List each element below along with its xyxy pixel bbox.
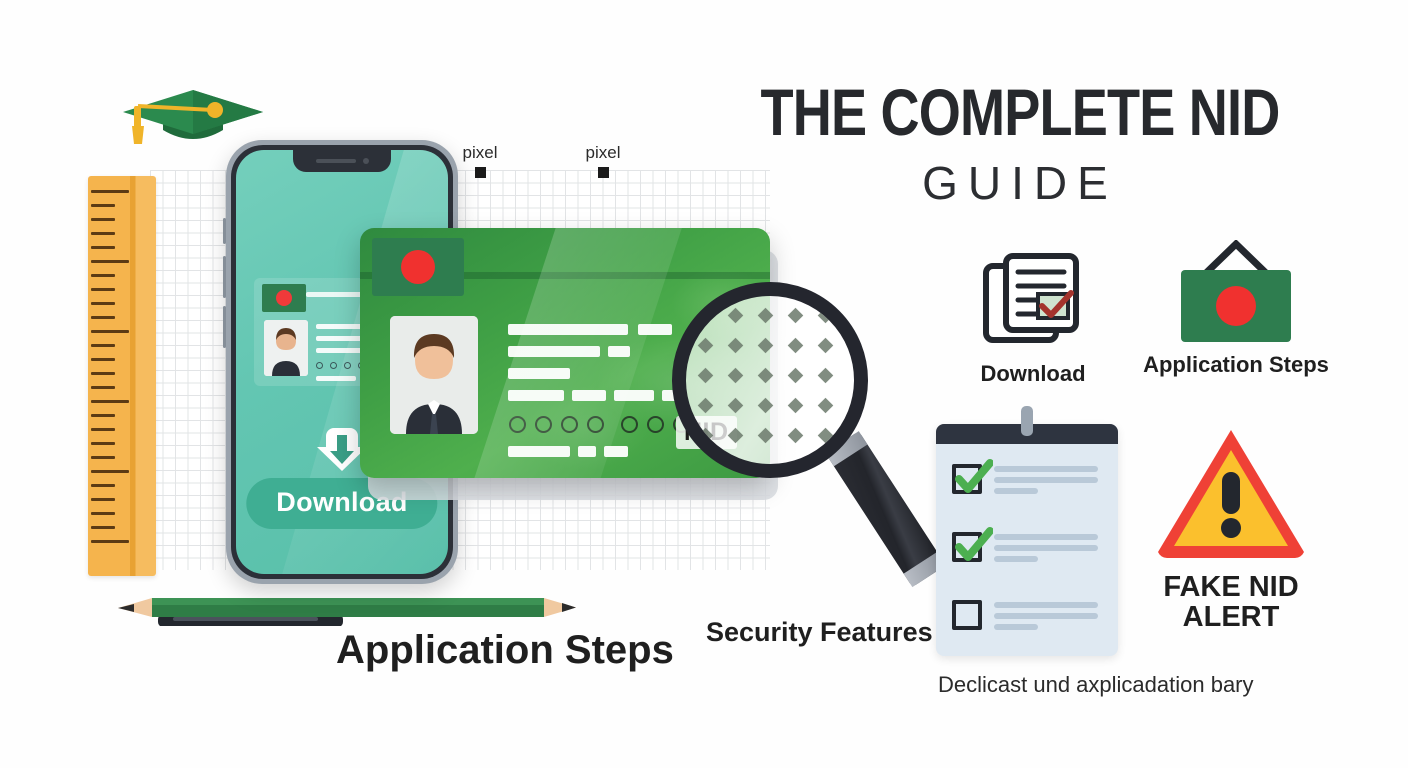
poster-title: THE COMPLETE NID GUIDE [700,74,1340,210]
alert-line-1: FAKE NID [1146,572,1316,602]
check-icon [953,457,993,497]
bangladesh-flag-icon [262,284,306,312]
phone-volume-up-button[interactable] [223,256,226,298]
pixel-marker-left[interactable]: pixel [455,143,505,178]
pixel-marker-label: pixel [578,143,628,163]
checklist-item[interactable] [952,532,1102,584]
flag-sign-icon [1181,270,1291,342]
portrait-photo-icon [264,320,308,376]
card-sheen [448,228,692,478]
bangladesh-flag-icon [372,238,464,296]
poster-canvas: Download pixel pixel [0,0,1408,768]
security-dot-pattern [686,296,854,464]
phone-volume-down-button[interactable] [223,306,226,348]
checklist-item-lines [994,602,1098,635]
alert-line-2: ALERT [1146,602,1316,632]
checklist-item-lines [994,466,1098,499]
fake-nid-alert-text: FAKE NID ALERT [1146,572,1316,633]
pixel-marker-label: pixel [455,143,505,163]
selection-handle[interactable] [475,167,486,178]
phone-camera-icon [363,158,369,164]
checkbox-unchecked[interactable] [952,600,982,630]
selection-handle[interactable] [598,167,609,178]
warning-triangle-icon [1154,424,1308,560]
phone-volume-button[interactable] [223,218,226,244]
title-line-2: GUIDE [700,156,1340,210]
ruler-icon [88,176,156,576]
portrait-photo-icon [390,316,478,434]
checklist-item-lines [994,534,1098,567]
hanger-hook-icon [1201,240,1271,274]
phone-speaker [316,159,356,163]
clipboard-clip [1021,406,1033,436]
feature-download[interactable]: Download [962,250,1104,387]
pencil-icon [118,586,578,626]
caption-security-features: Security Features [706,617,933,648]
bottom-note-text: Declicast und axplicadation bary [938,672,1254,698]
fake-nid-alert: FAKE NID ALERT [1146,424,1316,633]
feature-application-steps-label: Application Steps [1142,352,1330,378]
magnifying-glass-icon [672,282,932,612]
feature-download-label: Download [962,361,1104,387]
check-icon [953,525,993,565]
document-check-icon [980,250,1086,346]
magnifier-lens [672,282,868,478]
phone-notch [293,150,391,172]
pixel-marker-right[interactable]: pixel [578,143,628,178]
title-line-1: THE COMPLETE NID [758,74,1283,150]
feature-application-steps[interactable]: Application Steps [1142,240,1330,378]
caption-application-steps: Application Steps [336,628,674,673]
checklist-clipboard [936,424,1118,656]
checklist-item[interactable] [952,464,1102,516]
checklist-item[interactable] [952,600,1102,652]
graduation-cap-icon [118,72,268,152]
